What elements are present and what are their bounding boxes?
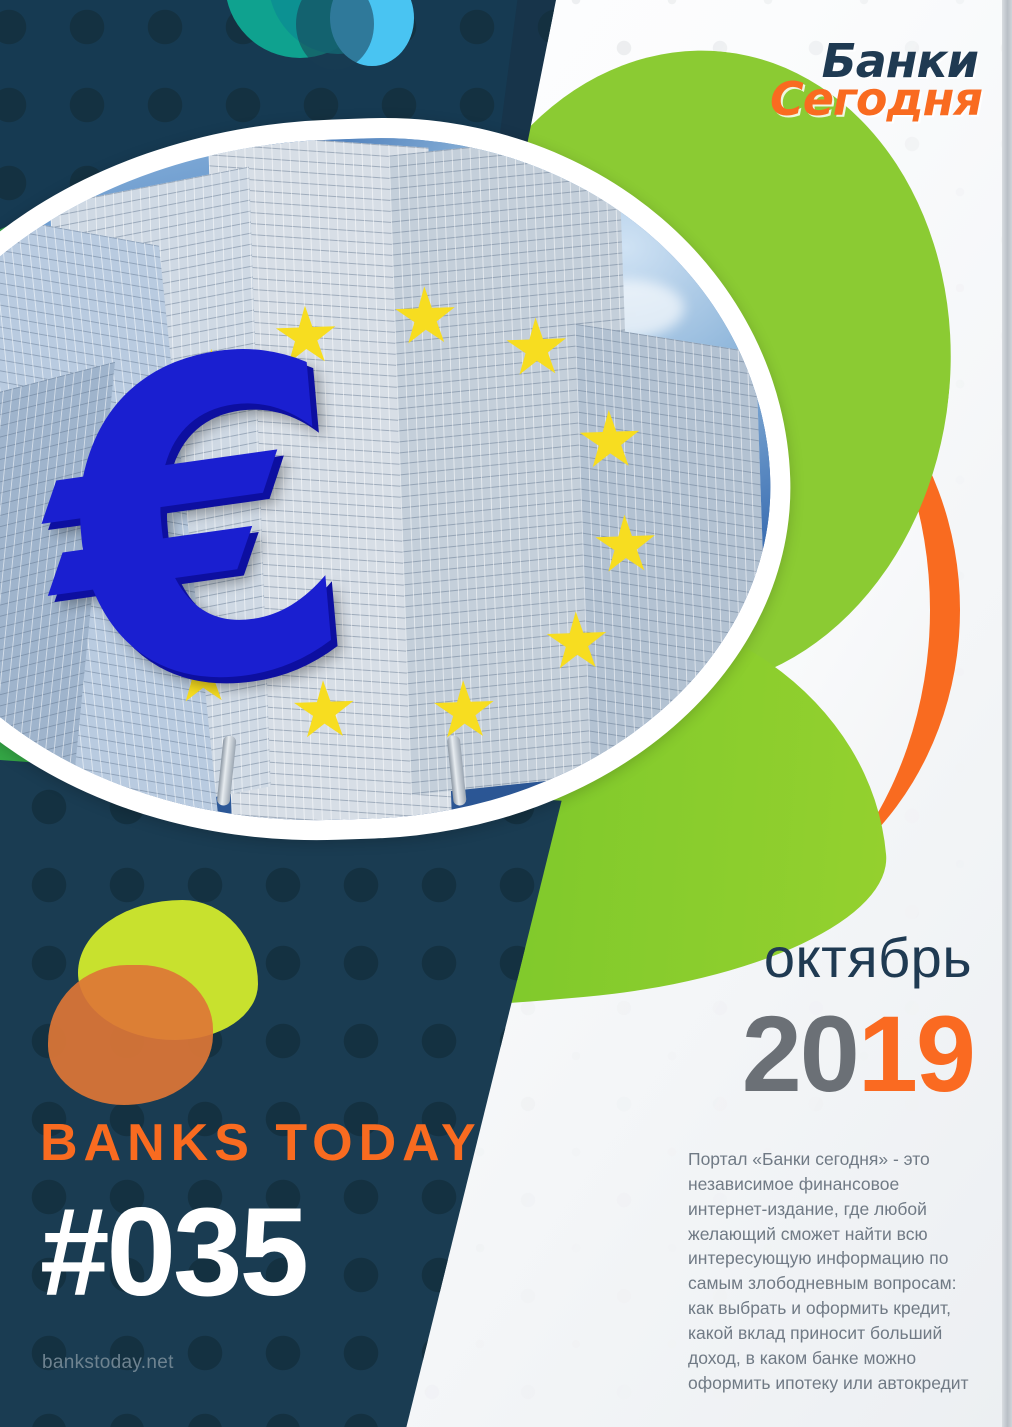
website-url[interactable]: bankstoday.net — [42, 1352, 174, 1374]
issue-number: #035 — [40, 1190, 306, 1315]
issue-year-suffix: 19 — [858, 993, 974, 1114]
cover-blurb: Портал «Банки сегодня» - это независимое… — [688, 1147, 980, 1395]
hero-photo-frame: € — [0, 104, 802, 856]
euro-symbol: € — [37, 323, 497, 772]
magazine-cover: € Банки Сегодня октябрь 2019 Портал «Бан… — [0, 0, 1012, 1427]
brand-title: BANKS TODAY — [40, 1113, 482, 1173]
hero-photo: € — [0, 125, 782, 836]
issue-month: октябрь — [764, 925, 972, 990]
logo[interactable]: Банки Сегодня — [770, 40, 978, 121]
skyscraper — [575, 324, 773, 822]
right-edge-scrollbar[interactable] — [1002, 0, 1012, 1427]
logo-line-segodnya: Сегодня — [770, 78, 982, 120]
issue-year-prefix: 20 — [742, 993, 858, 1114]
issue-year: 2019 — [742, 1000, 974, 1108]
